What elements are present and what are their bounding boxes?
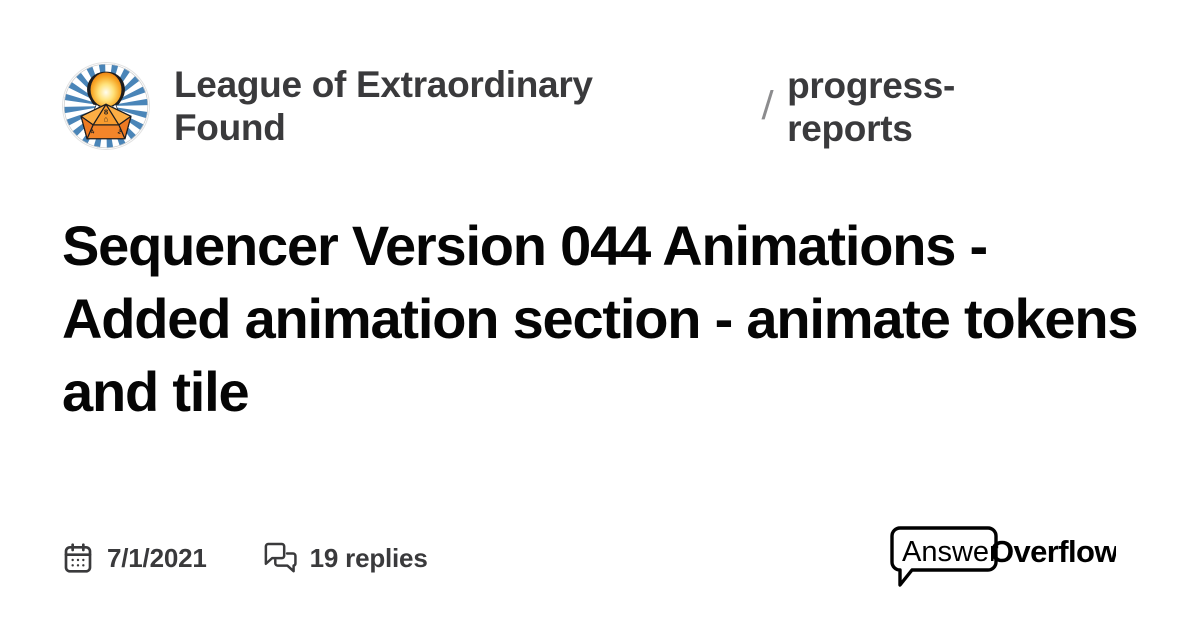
answer-overflow-logo[interactable]: Answer Overflow xyxy=(884,526,1138,590)
server-name: League of Extraordinary Found xyxy=(174,63,644,150)
breadcrumb-separator: / xyxy=(761,84,774,128)
server-breadcrumb-item[interactable]: 8 ⌂ 4 2 League of Extraordinary Found xyxy=(62,62,762,150)
thread-replies-label: 19 replies xyxy=(310,543,428,574)
svg-text:⌂: ⌂ xyxy=(104,114,109,123)
speech-bubbles-icon xyxy=(263,542,297,574)
calendar-icon xyxy=(62,542,94,574)
channel-name[interactable]: progress-reports xyxy=(787,64,997,151)
thread-date-label: 7/1/2021 xyxy=(107,543,207,574)
thread-date: 7/1/2021 xyxy=(62,542,207,574)
thread-replies: 19 replies xyxy=(263,542,428,574)
open-graph-preview-card: 8 ⌂ 4 2 League of Extraordinary Found / … xyxy=(0,0,1200,630)
thread-meta-row: 7/1/2021 19 replies Answer Overflow xyxy=(62,526,1138,590)
brand-answer-text: Answer xyxy=(902,536,999,568)
thread-title[interactable]: Sequencer Version 044 Animations - Added… xyxy=(62,210,1138,428)
league-of-extraordinary-foundry-logo-icon: 8 ⌂ 4 2 xyxy=(62,62,150,150)
breadcrumb: 8 ⌂ 4 2 League of Extraordinary Found / … xyxy=(62,62,1138,182)
brand-overflow-text: Overflow xyxy=(990,534,1116,569)
